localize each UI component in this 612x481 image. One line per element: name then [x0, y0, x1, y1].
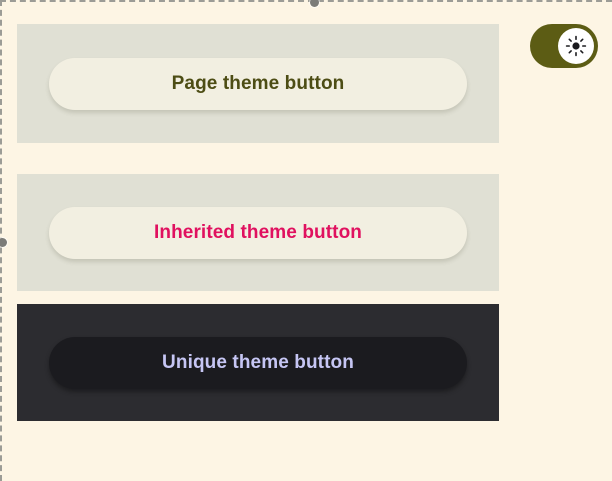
sun-icon	[565, 35, 587, 57]
theme-toggle-switch[interactable]	[530, 24, 598, 68]
preview-canvas: Page theme button Inherited theme button…	[0, 0, 612, 481]
theme-toggle-knob	[558, 28, 594, 64]
section-inherited-theme: Inherited theme button	[17, 174, 499, 291]
inherited-theme-button[interactable]: Inherited theme button	[49, 207, 467, 259]
page-theme-button[interactable]: Page theme button	[49, 58, 467, 110]
section-page-theme: Page theme button	[17, 24, 499, 143]
resize-handle-top-center[interactable]	[310, 0, 319, 7]
unique-theme-button[interactable]: Unique theme button	[49, 337, 467, 389]
section-unique-theme: Unique theme button	[17, 304, 499, 421]
resize-handle-left-middle[interactable]	[0, 238, 7, 247]
